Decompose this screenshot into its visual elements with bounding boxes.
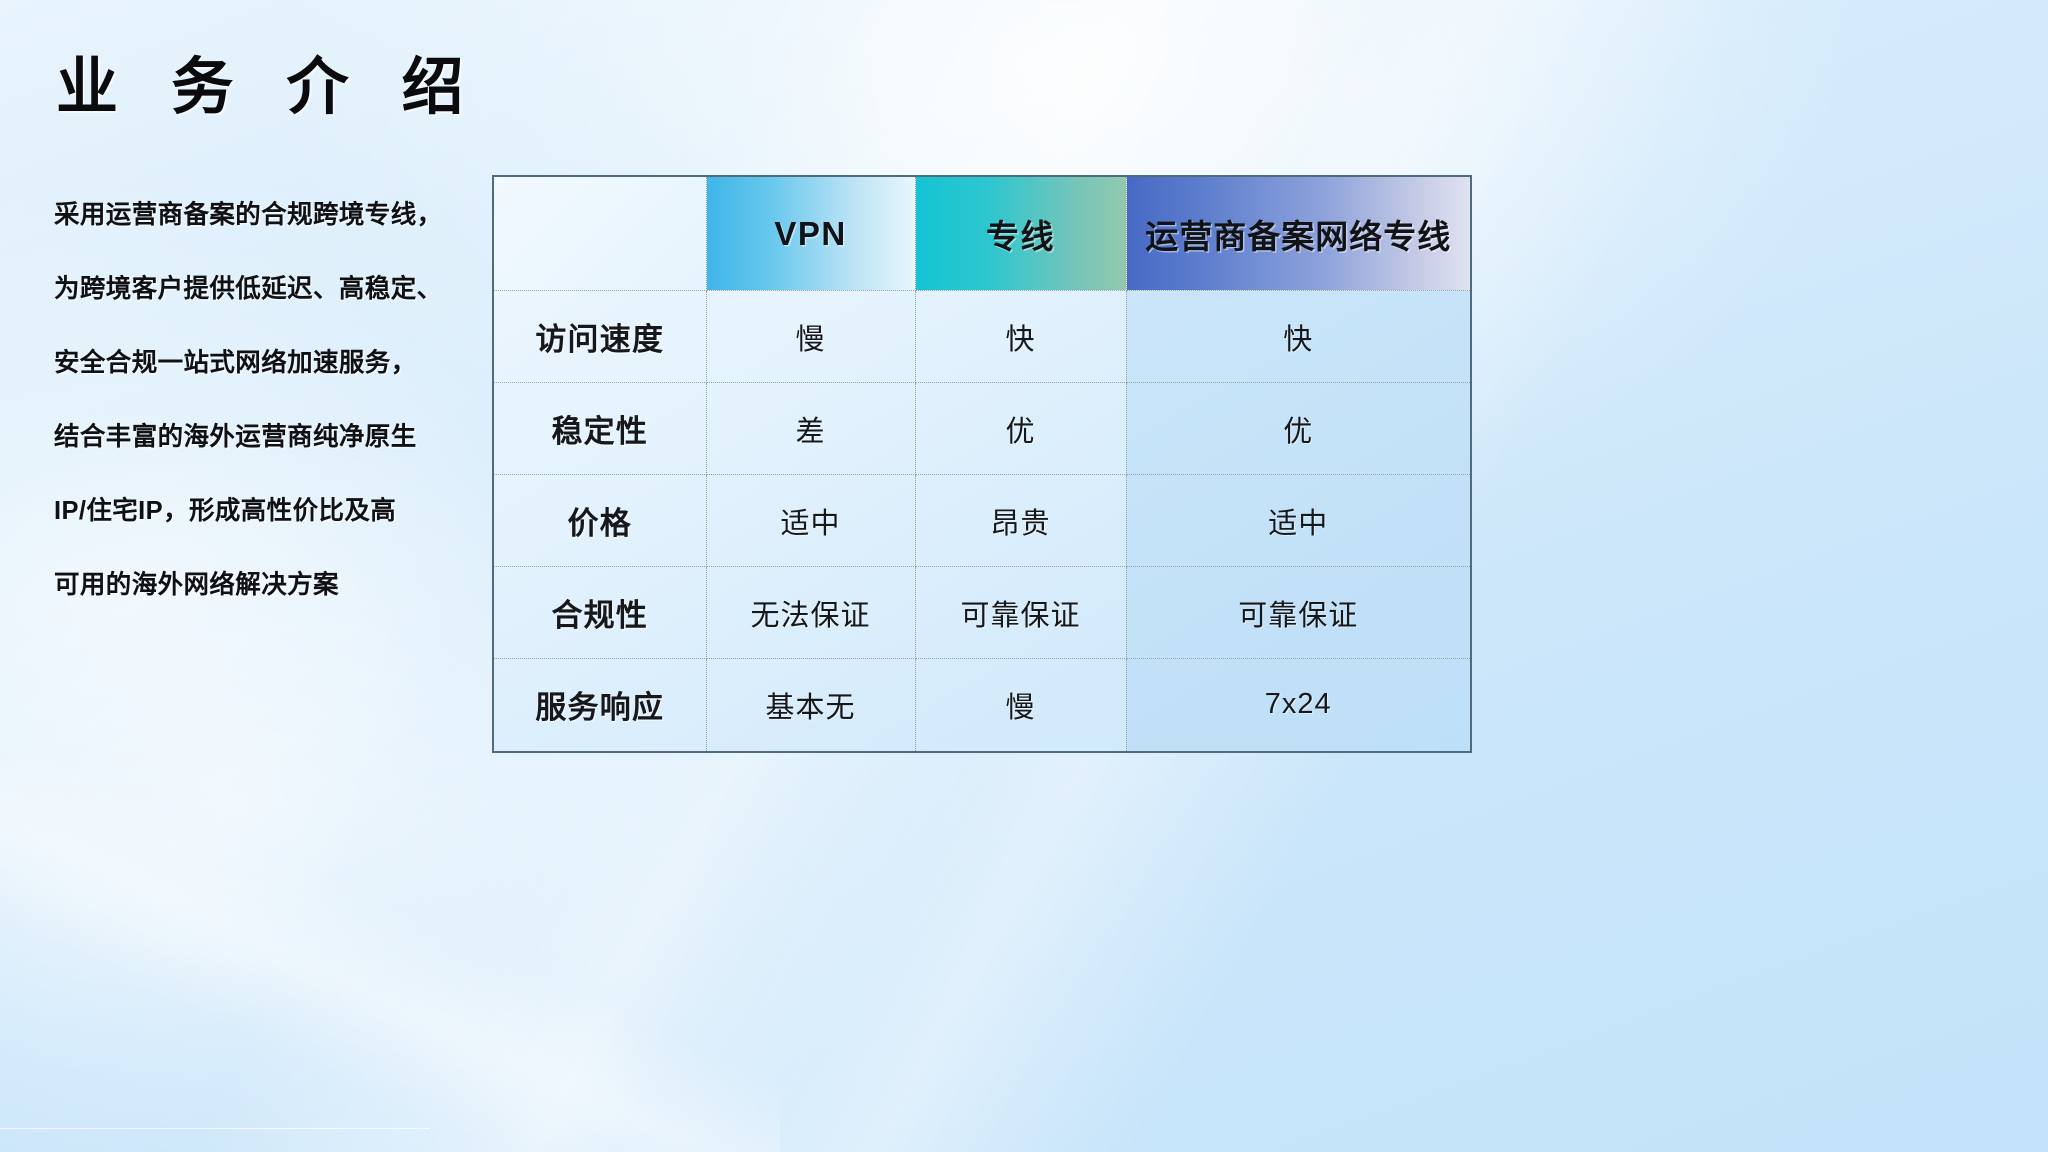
cell-carrier-compliance: 可靠保证 <box>1126 567 1470 659</box>
row-label-stability: 稳定性 <box>494 383 706 475</box>
table-row: 服务响应 基本无 慢 7x24 <box>494 659 1470 751</box>
row-label-price: 价格 <box>494 475 706 567</box>
lead-paragraph: 采用运营商备案的合规跨境专线， 为跨境客户提供低延迟、高稳定、 安全合规一站式网… <box>54 178 474 622</box>
cell-carrier-price: 适中 <box>1126 475 1470 567</box>
cell-line-access-speed: 快 <box>915 291 1126 383</box>
comparison-table: VPN 专线 运营商备案网络专线 访问速度 慢 快 快 稳定性 <box>492 175 1472 753</box>
lead-paragraph-line: 采用运营商备案的合规跨境专线， <box>54 178 474 252</box>
table-header-vpn: VPN <box>706 177 915 291</box>
table-header-carrier-line-label: 运营商备案网络专线 <box>1127 177 1471 290</box>
table-header-vpn-label: VPN <box>707 177 915 290</box>
cell-vpn-price: 适中 <box>706 475 915 567</box>
table-header-carrier-line: 运营商备案网络专线 <box>1126 177 1470 291</box>
row-label-service-response: 服务响应 <box>494 659 706 751</box>
table-header-blank-label <box>494 177 706 290</box>
cell-vpn-compliance: 无法保证 <box>706 567 915 659</box>
row-label-compliance: 合规性 <box>494 567 706 659</box>
table-header-row: VPN 专线 运营商备案网络专线 <box>494 177 1470 291</box>
cell-carrier-service-response: 7x24 <box>1126 659 1470 751</box>
table-header-dedicated-line: 专线 <box>915 177 1126 291</box>
cell-carrier-access-speed: 快 <box>1126 291 1470 383</box>
background-light-ray <box>0 760 780 1152</box>
row-label-access-speed: 访问速度 <box>494 291 706 383</box>
background-hairline <box>0 1128 430 1129</box>
cell-vpn-service-response: 基本无 <box>706 659 915 751</box>
lead-paragraph-line: 可用的海外网络解决方案 <box>54 548 474 622</box>
table-row: 价格 适中 昂贵 适中 <box>494 475 1470 567</box>
cell-line-service-response: 慢 <box>915 659 1126 751</box>
cell-vpn-stability: 差 <box>706 383 915 475</box>
lead-paragraph-line: 安全合规一站式网络加速服务， <box>54 326 474 400</box>
lead-paragraph-line: 结合丰富的海外运营商纯净原生 <box>54 400 474 474</box>
page-title: 业 务 介 绍 <box>56 52 482 123</box>
cell-line-price: 昂贵 <box>915 475 1126 567</box>
cell-carrier-stability: 优 <box>1126 383 1470 475</box>
table-row: 合规性 无法保证 可靠保证 可靠保证 <box>494 567 1470 659</box>
cell-line-compliance: 可靠保证 <box>915 567 1126 659</box>
lead-paragraph-line: IP/住宅IP，形成高性价比及高 <box>54 474 474 548</box>
table-row: 访问速度 慢 快 快 <box>494 291 1470 383</box>
table-header-dedicated-line-label: 专线 <box>916 177 1126 290</box>
table-header-blank <box>494 177 706 291</box>
lead-paragraph-line: 为跨境客户提供低延迟、高稳定、 <box>54 252 474 326</box>
cell-line-stability: 优 <box>915 383 1126 475</box>
slide-canvas: 业 务 介 绍 采用运营商备案的合规跨境专线， 为跨境客户提供低延迟、高稳定、 … <box>0 0 2048 1152</box>
table-row: 稳定性 差 优 优 <box>494 383 1470 475</box>
cell-vpn-access-speed: 慢 <box>706 291 915 383</box>
